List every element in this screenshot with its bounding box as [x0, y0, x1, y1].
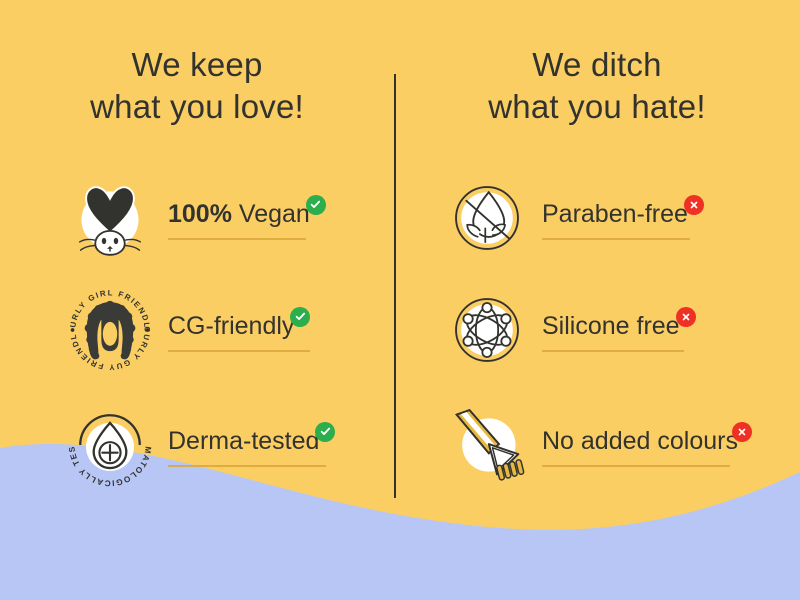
feature-underline: [168, 465, 326, 467]
feature-label-text: CG-friendly: [168, 312, 294, 340]
column-ditch: We ditch what you hate! Paraben-free: [400, 0, 794, 520]
feature-row-cg-friendly: CURLY GIRL FRIENDLY CURLY GUY FRIENDLY: [0, 275, 452, 385]
feature-row-no-added-colours: No added colours: [400, 390, 800, 500]
feature-label-text: Derma-tested: [168, 427, 319, 455]
cross-badge-icon: [732, 422, 752, 442]
no-paraben-droplet-leaf-icon: [438, 166, 536, 270]
feature-label-no-added-colours: No added colours: [542, 426, 740, 456]
feature-underline: [542, 350, 684, 352]
feature-underline: [168, 238, 306, 240]
check-badge-icon: [290, 307, 310, 327]
feature-label-slot: Paraben-free: [542, 197, 690, 240]
feature-label-slot: Derma-tested: [168, 424, 326, 467]
infographic-canvas: We keep what you love!: [0, 0, 800, 600]
feature-label-derma-tested: Derma-tested: [168, 426, 321, 456]
feature-label-paraben-free: Paraben-free: [542, 199, 690, 229]
feature-label-vegan: 100% Vegan: [168, 199, 312, 229]
feature-underline: [542, 238, 690, 240]
feature-label-slot: Silicone free: [542, 309, 684, 352]
feature-label-text: Silicone free: [542, 312, 680, 340]
heading-keep: We keep what you love!: [0, 44, 394, 128]
column-keep: We keep what you love!: [0, 0, 394, 520]
check-badge-icon: [306, 195, 326, 215]
cross-badge-icon: [676, 307, 696, 327]
feature-row-paraben-free: Paraben-free: [400, 163, 800, 273]
curly-girl-friendly-badge-icon: CURLY GIRL FRIENDLY CURLY GUY FRIENDLY: [58, 278, 162, 382]
dermatologically-tested-badge-icon: DERMATOLOGICALLY TESTED: [58, 393, 162, 497]
feature-label-text: No added colours: [542, 427, 738, 455]
no-added-colours-dye-brush-icon: [438, 393, 536, 497]
heading-ditch: We ditch what you hate!: [400, 44, 794, 128]
feature-underline: [542, 465, 730, 467]
feature-label-slot: No added colours: [542, 424, 740, 467]
vegan-bunny-icon: [58, 166, 162, 270]
no-silicone-atom-icon: [438, 278, 536, 382]
feature-label-text: Vegan: [232, 200, 310, 228]
feature-underline: [168, 350, 310, 352]
feature-label-emphasis: 100%: [168, 200, 232, 228]
feature-label-slot: CG-friendly: [168, 309, 310, 352]
cross-badge-icon: [684, 195, 704, 215]
feature-row-vegan: 100% Vegan: [0, 163, 452, 273]
feature-row-silicone-free: Silicone free: [400, 275, 800, 385]
feature-label-slot: 100% Vegan: [168, 197, 312, 240]
feature-label-cg-friendly: CG-friendly: [168, 311, 296, 341]
feature-label-text: Paraben-free: [542, 200, 688, 228]
feature-row-derma-tested: DERMATOLOGICALLY TESTED Derma-tested: [0, 390, 452, 500]
feature-label-silicone-free: Silicone free: [542, 311, 682, 341]
check-badge-icon: [315, 422, 335, 442]
